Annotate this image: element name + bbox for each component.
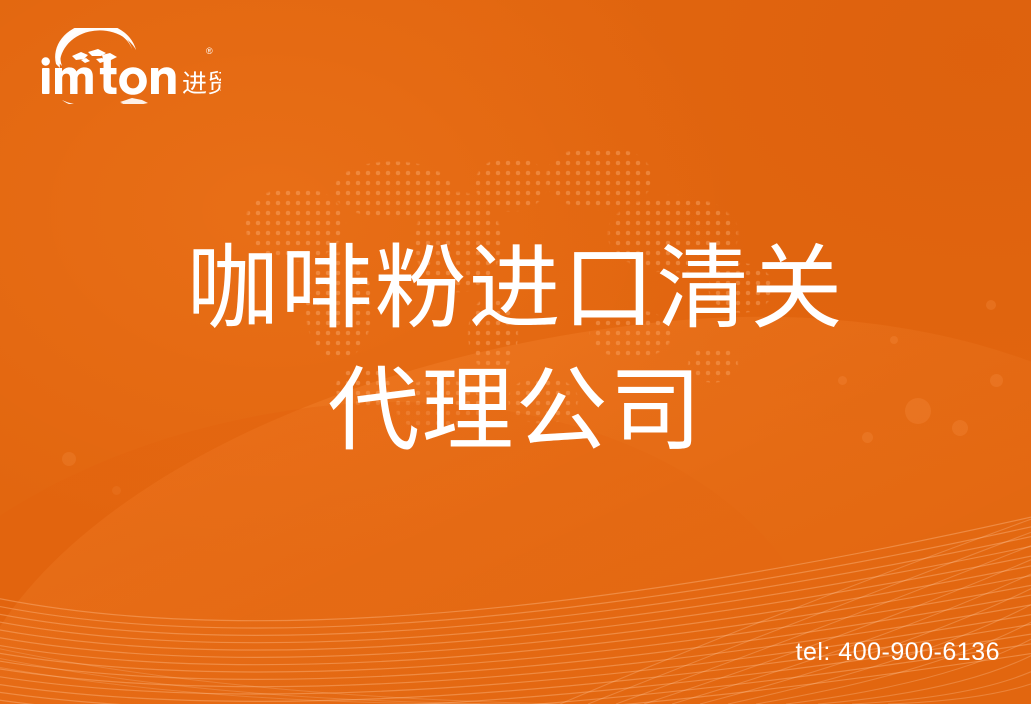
imton-logo[interactable]: 进贸通 ®	[36, 28, 221, 104]
title-line-2: 代理公司	[0, 350, 1031, 472]
page-title: 咖啡粉进口清关 代理公司	[0, 228, 1031, 472]
globe-arc-icon	[55, 28, 136, 68]
imton-wordmark	[42, 57, 176, 94]
logo-chinese-name: 进贸通	[182, 69, 221, 98]
contact-phone[interactable]: tel: 400-900-6136	[796, 637, 1000, 667]
swoosh-icon	[62, 98, 148, 104]
title-line-1: 咖啡粉进口清关	[0, 228, 1031, 350]
trademark-symbol: ®	[206, 46, 213, 56]
promo-banner: 进贸通 ® 咖啡粉进口清关 代理公司 tel: 400-900-6136	[0, 0, 1031, 704]
